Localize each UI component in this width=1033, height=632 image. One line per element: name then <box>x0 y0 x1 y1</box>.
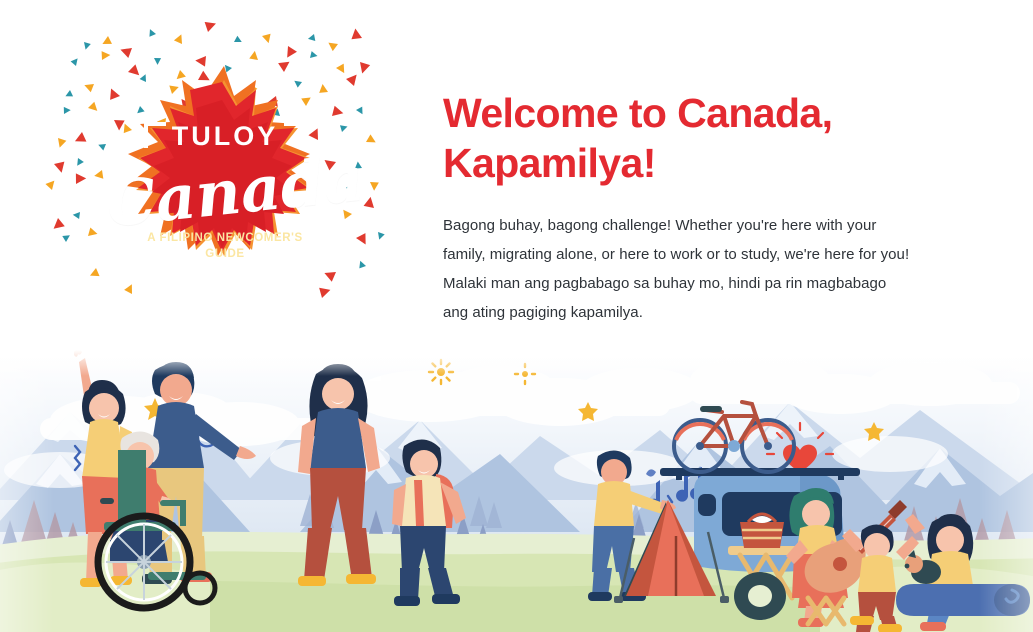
newcomers-outdoor-illustration <box>0 350 1033 632</box>
chair-armrest <box>100 498 114 504</box>
illustration-canvas <box>0 350 1033 632</box>
tent-peg-right <box>720 596 729 603</box>
top-fade <box>0 350 1033 376</box>
bracket-bottom-right-horizontal <box>262 274 306 278</box>
face <box>89 393 119 423</box>
hero-body-text: Bagong buhay, bagong challenge! Whether … <box>443 188 913 328</box>
logo-subtitle: A FILIPINO NEWCOMER'S GUIDE <box>144 231 306 262</box>
shoe-left <box>850 616 874 625</box>
wheel-spokes <box>106 524 182 600</box>
shoe-right <box>346 574 376 584</box>
basket-body <box>740 522 784 548</box>
tuloy-canada-logo: TULOY Canada A FILIPINO NEWCOMER'S GUIDE <box>36 22 406 332</box>
page-title: Welcome to Canada, Kapamilya! <box>443 88 913 188</box>
roof-post-right <box>838 468 844 480</box>
leg-left <box>400 568 420 600</box>
guitar-soundhole <box>833 557 847 571</box>
bike-hub-front <box>764 442 772 450</box>
shoe-right <box>432 594 460 604</box>
hero-copy-block: Welcome to Canada, Kapamilya! Bagong buh… <box>443 88 913 328</box>
face <box>802 500 830 528</box>
face <box>936 526 964 554</box>
face <box>410 450 438 478</box>
logo-text-layer: TULOY Canada A FILIPINO NEWCOMER'S GUIDE <box>36 22 406 332</box>
top-yellow <box>858 555 896 592</box>
shirt-yellow <box>594 481 634 526</box>
chair-armpost <box>180 500 186 526</box>
face <box>322 378 354 410</box>
shoe <box>920 622 946 631</box>
van-window-small <box>698 494 716 516</box>
dog-nose <box>905 564 910 569</box>
shoe-left <box>298 576 326 586</box>
shoe-left <box>588 592 612 601</box>
right-fade <box>979 350 1033 632</box>
hero-section: TULOY Canada A FILIPINO NEWCOMER'S GUIDE… <box>0 0 1033 356</box>
roof-post-left <box>676 468 682 480</box>
bike-crank <box>728 440 740 452</box>
bike-saddle <box>700 406 722 412</box>
logo-wordmark-canada: Canada <box>103 150 348 237</box>
tent-peg-left <box>614 596 623 603</box>
logo-wordmark-tuloy: TULOY <box>144 123 306 150</box>
left-fade <box>0 350 54 632</box>
face <box>160 374 192 406</box>
shoe-left <box>394 596 420 606</box>
bracket-bottom-left-horizontal <box>144 274 188 278</box>
tee-navy <box>310 408 366 468</box>
shoe-right <box>878 624 902 632</box>
bike-hub-rear <box>696 442 704 450</box>
spare-tire-rim <box>748 585 772 607</box>
